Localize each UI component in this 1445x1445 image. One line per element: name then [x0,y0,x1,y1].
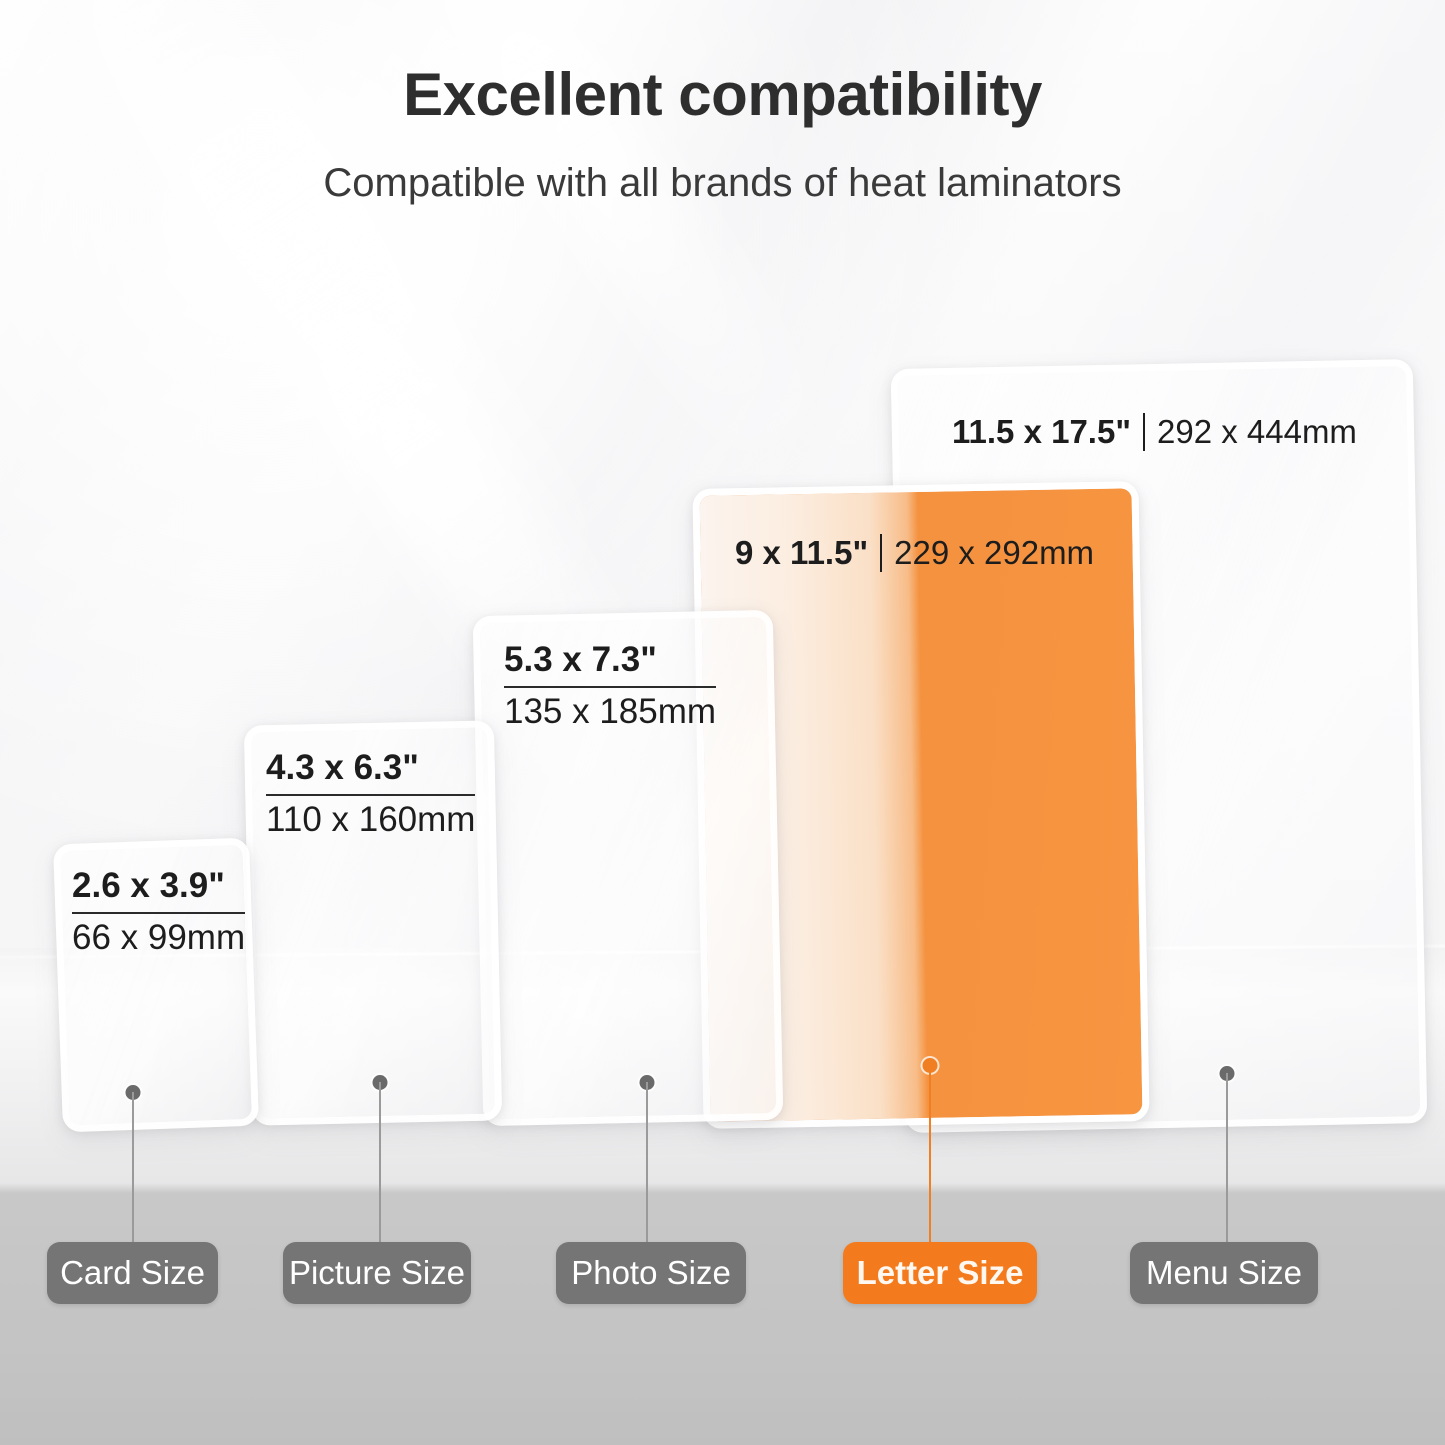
sheet-card-inches: 2.6 x 3.9" [72,866,245,906]
leader-letter-size [922,1058,937,1245]
sheet-letter-separator [880,534,882,572]
pill-menu-size-label: Menu Size [1146,1254,1302,1292]
sheet-photo-mm: 135 x 185mm [504,692,716,732]
pill-photo-size[interactable]: Photo Size [556,1242,746,1304]
sheet-letter-mm: 229 x 292mm [894,535,1094,571]
pill-picture-size-label: Picture Size [289,1254,465,1292]
pill-card-size[interactable]: Card Size [47,1242,218,1304]
leader-line-letter-size [929,1065,931,1248]
pill-menu-size[interactable]: Menu Size [1130,1242,1318,1304]
sheet-menu-inches: 11.5 x 17.5" [952,414,1131,450]
leader-menu-size [1219,1066,1234,1245]
sheet-letter-size-label: 9 x 11.5" 229 x 292mm [735,534,1094,572]
pill-photo-size-label: Photo Size [571,1254,731,1292]
sheet-photo-inches: 5.3 x 7.3" [504,640,716,680]
pill-card-size-label: Card Size [60,1254,205,1292]
pill-letter-size[interactable]: Letter Size [843,1242,1037,1304]
sheet-card-mm: 66 x 99mm [72,918,245,958]
leader-picture-size [372,1075,387,1245]
leader-line-menu-size [1226,1073,1228,1248]
sheet-picture-inches: 4.3 x 6.3" [266,748,475,788]
pill-picture-size[interactable]: Picture Size [283,1242,471,1304]
header-block: Excellent compatibility Compatible with … [0,62,1445,206]
sheet-menu-separator [1143,413,1145,451]
sheet-letter-inches: 9 x 11.5" [735,535,868,571]
leader-line-card-size [132,1092,134,1248]
leader-line-photo-size [646,1082,648,1248]
sheet-photo-rule [504,686,716,688]
page-subtitle: Compatible with all brands of heat lamin… [0,160,1445,206]
sheet-picture-size-label: 4.3 x 6.3" 110 x 160mm [266,748,475,841]
sheet-menu-size-label: 11.5 x 17.5" 292 x 444mm [952,413,1357,451]
infographic-canvas: Excellent compatibility Compatible with … [0,0,1445,1445]
sheet-menu-mm: 292 x 444mm [1157,414,1357,450]
leader-line-picture-size [379,1082,381,1248]
sheet-picture-mm: 110 x 160mm [266,800,475,840]
sheet-card-size-label: 2.6 x 3.9" 66 x 99mm [72,866,245,959]
leader-photo-size [639,1075,654,1245]
pill-letter-size-label: Letter Size [857,1254,1024,1292]
leader-card-size [125,1085,140,1245]
sheet-card-rule [72,912,245,914]
sheet-picture-rule [266,794,475,796]
sheet-photo-size-label: 5.3 x 7.3" 135 x 185mm [504,640,716,733]
page-title: Excellent compatibility [0,62,1445,128]
